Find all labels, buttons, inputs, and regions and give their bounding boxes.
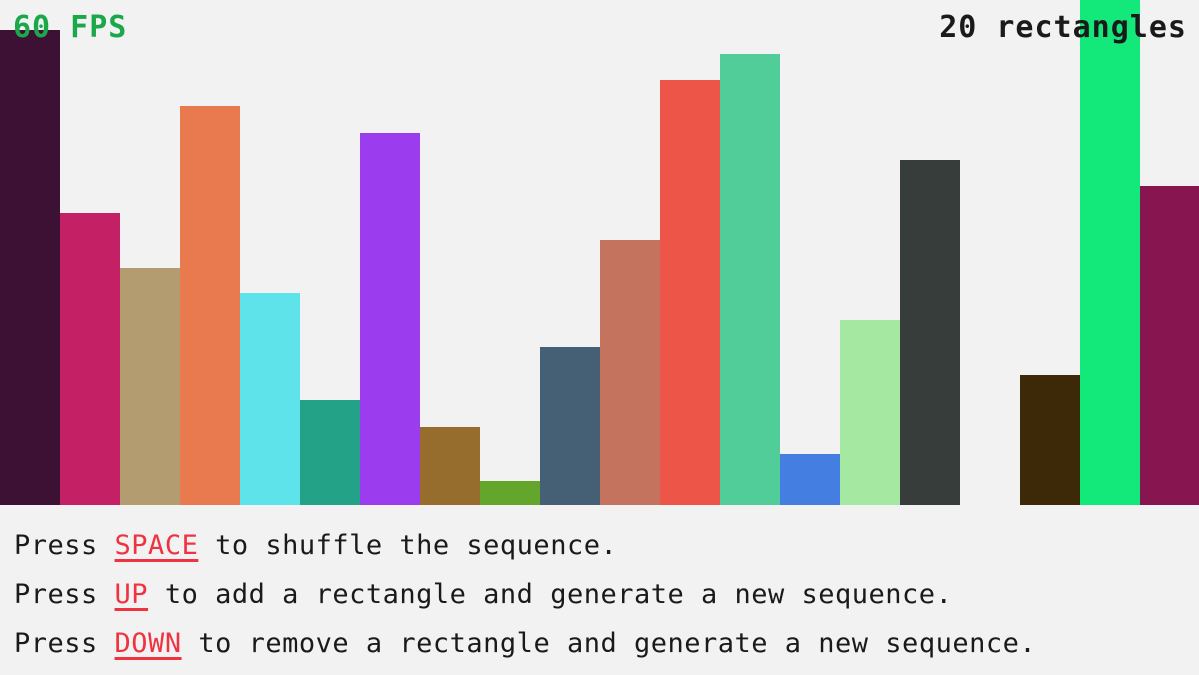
- bar-olive-green[interactable]: [480, 481, 540, 505]
- instruction-prefix: Press: [14, 579, 115, 610]
- bar-ochre[interactable]: [420, 427, 480, 505]
- bar-dark-magenta[interactable]: [1140, 186, 1199, 505]
- fps-counter: 60 FPS: [13, 13, 127, 43]
- instruction-suffix: to add a rectangle and generate a new se…: [148, 579, 952, 610]
- instructions-panel: Press SPACE to shuffle the sequence.Pres…: [0, 507, 1199, 675]
- bar-chart-canvas[interactable]: [0, 0, 1199, 507]
- bar-purple[interactable]: [360, 133, 420, 505]
- bar-charcoal[interactable]: [900, 160, 960, 505]
- instruction-line-3: Press DOWN to remove a rectangle and gen…: [14, 619, 1199, 668]
- bar-red[interactable]: [660, 80, 720, 505]
- bar-light-green[interactable]: [840, 320, 900, 505]
- instruction-suffix: to shuffle the sequence.: [198, 530, 617, 561]
- bar-magenta[interactable]: [60, 213, 120, 505]
- bar-orange[interactable]: [180, 106, 240, 505]
- rectangle-count-label: 20 rectangles: [939, 13, 1187, 43]
- instruction-prefix: Press: [14, 628, 115, 659]
- bar-salmon[interactable]: [600, 240, 660, 505]
- key-hint-space[interactable]: SPACE: [115, 530, 199, 561]
- key-hint-down[interactable]: DOWN: [115, 628, 182, 659]
- bar-mint-green[interactable]: [720, 54, 780, 505]
- instruction-line-1: Press SPACE to shuffle the sequence.: [14, 521, 1199, 570]
- bar-dark-brown[interactable]: [1020, 375, 1080, 505]
- bar-cyan[interactable]: [240, 293, 300, 505]
- instruction-prefix: Press: [14, 530, 115, 561]
- bar-slate-blue[interactable]: [540, 347, 600, 505]
- key-hint-up[interactable]: UP: [115, 579, 149, 610]
- instruction-suffix: to remove a rectangle and generate a new…: [182, 628, 1037, 659]
- bar-blue[interactable]: [780, 454, 840, 505]
- bar-dark-plum[interactable]: [0, 30, 60, 505]
- app-root: 60 FPS 20 rectangles Press SPACE to shuf…: [0, 0, 1199, 675]
- bar-bright-green[interactable]: [1080, 0, 1140, 505]
- bar-tan[interactable]: [120, 268, 180, 505]
- bar-teal[interactable]: [300, 400, 360, 505]
- instruction-line-2: Press UP to add a rectangle and generate…: [14, 570, 1199, 619]
